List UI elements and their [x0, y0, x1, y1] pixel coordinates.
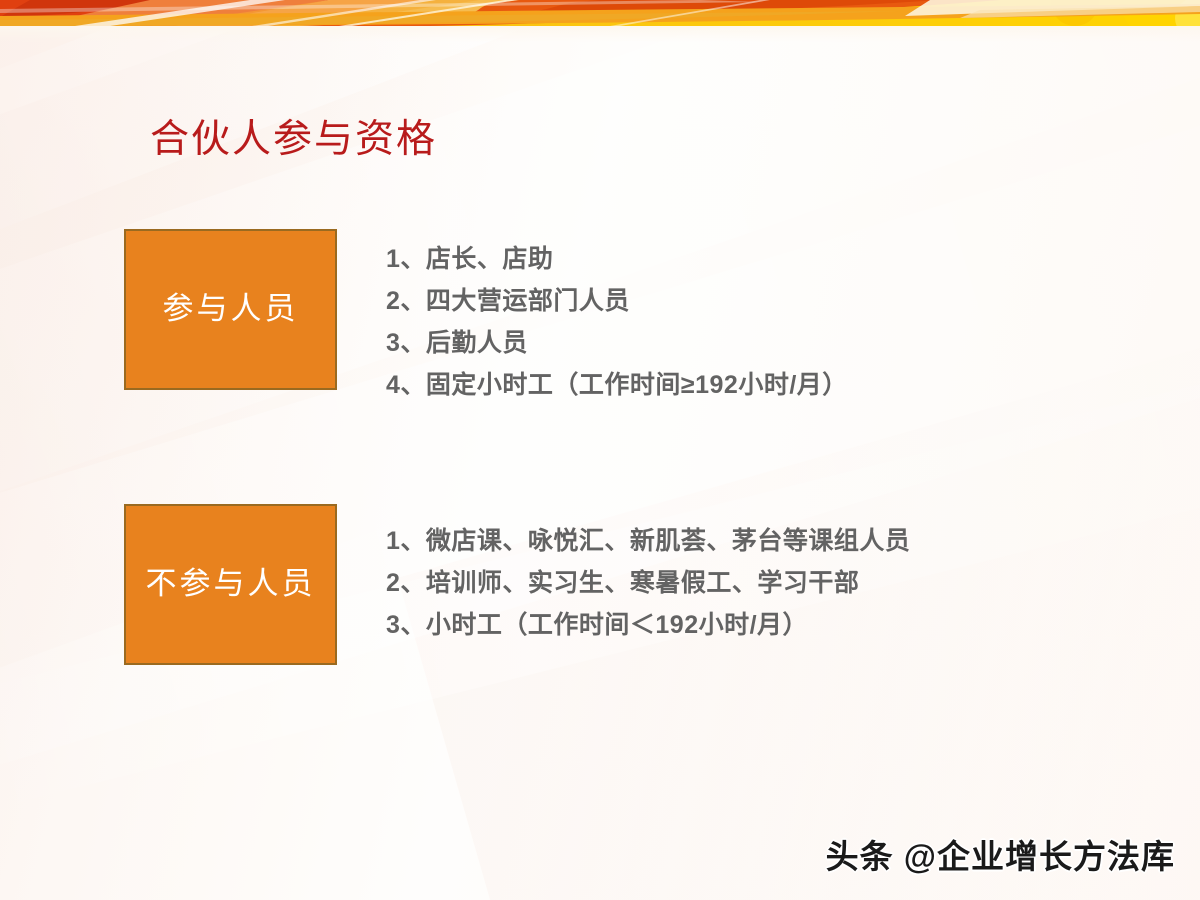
label-box-participants: 参与人员: [124, 229, 337, 390]
list-item: 4、固定小时工（工作时间≥192小时/月）: [386, 364, 848, 406]
list-item: 1、微店课、咏悦汇、新肌荟、茅台等课组人员: [386, 520, 910, 562]
list-item: 1、店长、店助: [386, 238, 848, 280]
watermark: 头条 @企业增长方法库: [826, 830, 1175, 878]
non-participant-list: 1、微店课、咏悦汇、新肌荟、茅台等课组人员 2、培训师、实习生、寒暑假工、学习干…: [386, 520, 910, 646]
decorative-banner: [0, 0, 1200, 26]
participant-list: 1、店长、店助 2、四大营运部门人员 3、后勤人员 4、固定小时工（工作时间≥1…: [386, 238, 848, 406]
slide-canvas: 合伙人参与资格 参与人员 1、店长、店助 2、四大营运部门人员 3、后勤人员 4…: [0, 0, 1200, 900]
list-item: 2、四大营运部门人员: [386, 280, 848, 322]
page-title: 合伙人参与资格: [150, 119, 437, 162]
list-item: 3、小时工（工作时间＜192小时/月）: [386, 604, 910, 646]
list-item: 3、后勤人员: [386, 322, 848, 364]
list-item: 2、培训师、实习生、寒暑假工、学习干部: [386, 562, 910, 604]
label-box-non-participants: 不参与人员: [124, 504, 337, 665]
